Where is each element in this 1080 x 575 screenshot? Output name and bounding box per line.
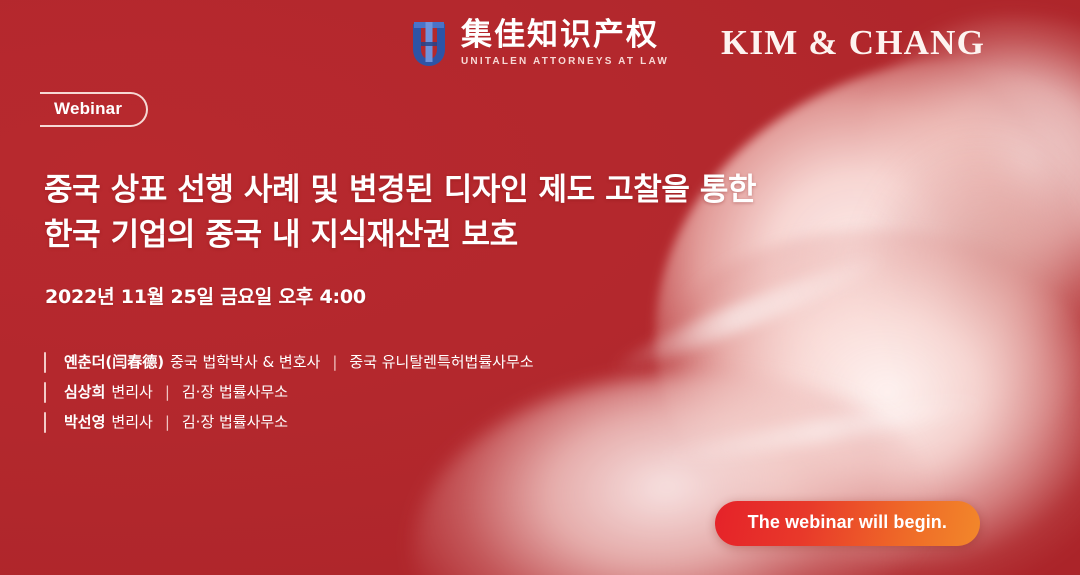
unitalen-chinese-name: 集佳知识产权 [461,20,669,51]
speaker-list: 옌춘더(闫春德) 중국 법학박사 & 변호사 | 중국 유니탈렌특허법률사무소 … [44,347,534,437]
speaker-separator: | [165,415,170,430]
silk-shadow [800,120,1080,450]
webinar-badge-wrap: Webinar [40,92,148,127]
logo-bar: 集佳知识产权 UNITALEN ATTORNEYS AT LAW KIM & C… [0,0,1080,86]
speaker-name: 옌춘더(闫春德) [64,355,164,370]
unitalen-english-name: UNITALEN ATTORNEYS AT LAW [461,57,669,67]
speaker-organization: 김·장 법률사무소 [182,415,288,430]
speaker-name: 박선영 [64,415,105,430]
webinar-badge: Webinar [40,92,148,127]
silk-crease-upper [606,245,894,381]
kim-and-chang-logo: KIM & CHANG [721,23,985,63]
silk-crease-lower [651,391,990,472]
event-datetime: 2022년 11월 25일 금요일 오후 4:00 [45,282,366,309]
unitalen-wordmark: 集佳知识产权 UNITALEN ATTORNEYS AT LAW [461,20,669,67]
speaker-organization: 김·장 법률사무소 [182,385,288,400]
speaker-name: 심상희 [64,385,105,400]
webinar-status-pill: The webinar will begin. [715,501,980,546]
title-line-2: 한국 기업의 중국 내 지식재산권 보호 [44,213,756,258]
speaker-row: 박선영 변리사 | 김·장 법률사무소 [44,407,534,437]
speaker-separator: | [332,355,337,370]
title-line-1: 중국 상표 선행 사례 및 변경된 디자인 제도 고찰을 통한 [44,168,756,213]
speaker-role: 변리사 [111,415,152,430]
speaker-accent-bar [44,412,46,433]
speaker-row: 옌춘더(闫春德) 중국 법학박사 & 변호사 | 중국 유니탈렌특허법률사무소 [44,347,534,377]
speaker-separator: | [165,385,170,400]
webinar-poster: 集佳知识产权 UNITALEN ATTORNEYS AT LAW KIM & C… [0,0,1080,575]
speaker-role: 중국 법학박사 & 변호사 [170,355,320,370]
page-title: 중국 상표 선행 사례 및 변경된 디자인 제도 고찰을 통한 한국 기업의 중… [44,168,756,259]
speaker-row: 심상희 변리사 | 김·장 법률사무소 [44,377,534,407]
speaker-accent-bar [44,382,46,403]
speaker-accent-bar [44,352,46,373]
unitalen-pillar-icon [408,18,450,68]
unitalen-logo: 集佳知识产权 UNITALEN ATTORNEYS AT LAW [408,18,669,68]
speaker-organization: 중국 유니탈렌특허법률사무소 [349,355,533,370]
silk-shape-main [601,14,1080,575]
webinar-badge-label: Webinar [54,99,122,118]
speaker-role: 변리사 [111,385,152,400]
